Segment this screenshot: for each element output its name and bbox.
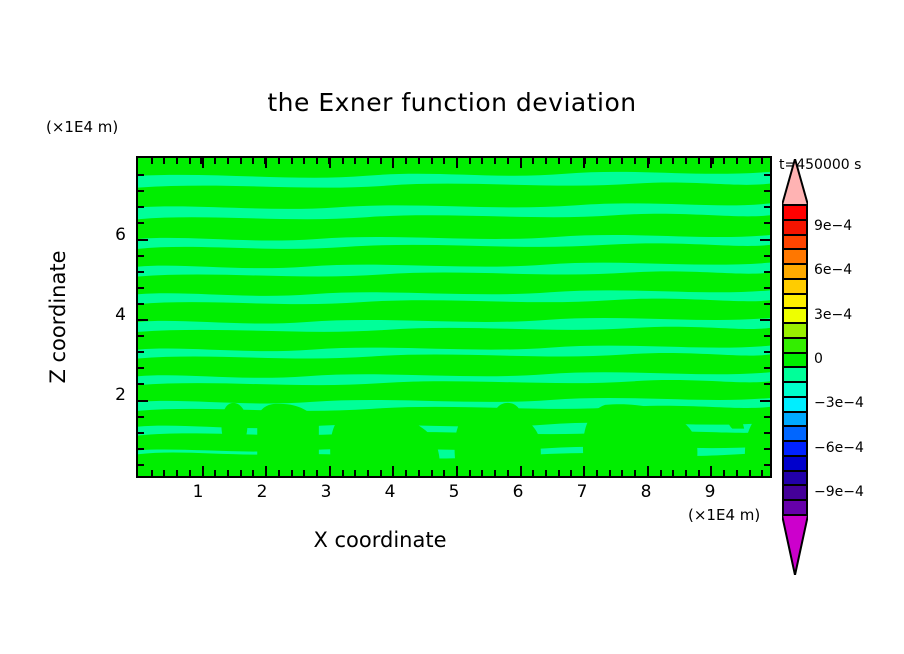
y-tick-minor bbox=[138, 383, 144, 385]
colorbar-band bbox=[782, 367, 808, 382]
x-tick-major bbox=[392, 466, 394, 476]
x-tick-minor bbox=[240, 158, 242, 164]
x-tick-major bbox=[520, 466, 522, 476]
colorbar-band bbox=[782, 249, 808, 264]
x-tick-label: 9 bbox=[695, 482, 725, 502]
x-tick-minor bbox=[621, 158, 623, 164]
x-tick-label: 5 bbox=[439, 482, 469, 502]
x-tick-minor bbox=[532, 470, 534, 476]
y-tick-minor bbox=[138, 255, 144, 257]
x-tick-minor bbox=[151, 470, 153, 476]
x-tick-major bbox=[456, 158, 458, 168]
x-tick-minor bbox=[252, 470, 254, 476]
x-tick-minor bbox=[189, 158, 191, 164]
x-tick-minor bbox=[481, 470, 483, 476]
x-tick-minor bbox=[380, 158, 382, 164]
x-tick-minor bbox=[736, 470, 738, 476]
x-tick-minor bbox=[252, 158, 254, 164]
y-tick-major bbox=[138, 400, 148, 402]
x-tick-minor bbox=[749, 470, 751, 476]
x-tick-label: 8 bbox=[631, 482, 661, 502]
colorbar-band bbox=[782, 264, 808, 279]
x-tick-major bbox=[329, 158, 331, 168]
y-tick-minor bbox=[764, 287, 770, 289]
y-tick-minor bbox=[764, 351, 770, 353]
y-tick-major bbox=[138, 319, 148, 321]
y-tick-minor bbox=[764, 383, 770, 385]
y-tick-minor bbox=[138, 303, 144, 305]
x-tick-minor bbox=[316, 470, 318, 476]
x-tick-minor bbox=[609, 158, 611, 164]
x-tick-minor bbox=[507, 470, 509, 476]
y-tick-minor bbox=[138, 271, 144, 273]
x-tick-minor bbox=[342, 158, 344, 164]
x-tick-minor bbox=[405, 158, 407, 164]
y-tick-minor bbox=[138, 335, 144, 337]
x-tick-minor bbox=[494, 158, 496, 164]
x-tick-minor bbox=[672, 158, 674, 164]
y-tick-label: 2 bbox=[96, 385, 126, 405]
x-tick-minor bbox=[761, 158, 763, 164]
y-tick-minor bbox=[764, 222, 770, 224]
y-tick-minor bbox=[138, 432, 144, 434]
y-tick-minor bbox=[764, 206, 770, 208]
x-tick-minor bbox=[380, 470, 382, 476]
x-tick-minor bbox=[316, 158, 318, 164]
x-tick-major bbox=[329, 466, 331, 476]
colorbar-band bbox=[782, 323, 808, 338]
x-tick-minor bbox=[405, 470, 407, 476]
y-tick-minor bbox=[764, 190, 770, 192]
x-tick-minor bbox=[723, 470, 725, 476]
x-tick-minor bbox=[749, 158, 751, 164]
y-tick-minor bbox=[138, 448, 144, 450]
x-tick-minor bbox=[609, 470, 611, 476]
colorbar-under-arrow bbox=[782, 515, 808, 575]
x-tick-label: 7 bbox=[567, 482, 597, 502]
y-tick-minor bbox=[138, 222, 144, 224]
colorbar-tick-label: 6e−4 bbox=[814, 262, 852, 278]
x-tick-minor bbox=[736, 158, 738, 164]
colorbar-band bbox=[782, 426, 808, 441]
x-tick-minor bbox=[570, 470, 572, 476]
x-tick-minor bbox=[151, 158, 153, 164]
y-tick-minor bbox=[764, 367, 770, 369]
x-tick-major bbox=[520, 158, 522, 168]
x-tick-major bbox=[265, 158, 267, 168]
x-tick-minor bbox=[672, 470, 674, 476]
colorbar-tick-label: −3e−4 bbox=[814, 395, 864, 411]
y-tick-major bbox=[138, 239, 148, 241]
x-tick-major bbox=[202, 158, 204, 168]
x-tick-major bbox=[710, 158, 712, 168]
x-tick-minor bbox=[507, 158, 509, 164]
x-tick-minor bbox=[354, 158, 356, 164]
colorbar-band bbox=[782, 338, 808, 353]
x-tick-minor bbox=[634, 158, 636, 164]
colorbar[interactable]: 9e−46e−43e−40−3e−4−6e−4−9e−4 bbox=[782, 205, 808, 515]
x-tick-label: 1 bbox=[183, 482, 213, 502]
colorbar-tick-label: −9e−4 bbox=[814, 484, 864, 500]
colorbar-over-arrow bbox=[782, 159, 808, 205]
x-tick-minor bbox=[494, 470, 496, 476]
x-tick-label: 6 bbox=[503, 482, 533, 502]
x-tick-minor bbox=[176, 470, 178, 476]
y-tick-label: 6 bbox=[96, 225, 126, 245]
x-tick-minor bbox=[163, 470, 165, 476]
x-tick-minor bbox=[367, 158, 369, 164]
y-tick-minor bbox=[138, 416, 144, 418]
contour-field bbox=[138, 158, 770, 476]
y-tick-minor bbox=[764, 255, 770, 257]
y-tick-minor bbox=[138, 206, 144, 208]
x-tick-minor bbox=[558, 158, 560, 164]
x-tick-minor bbox=[761, 470, 763, 476]
x-tick-major bbox=[265, 466, 267, 476]
colorbar-band bbox=[782, 500, 808, 515]
x-tick-major bbox=[583, 158, 585, 168]
x-axis-title: X coordinate bbox=[0, 528, 760, 552]
y-axis-unit-label: (×1E4 m) bbox=[46, 118, 118, 136]
x-tick-label: 4 bbox=[375, 482, 405, 502]
x-tick-minor bbox=[291, 470, 293, 476]
x-tick-minor bbox=[634, 470, 636, 476]
x-tick-minor bbox=[176, 158, 178, 164]
x-tick-minor bbox=[570, 158, 572, 164]
y-tick-minor bbox=[764, 335, 770, 337]
x-tick-minor bbox=[418, 158, 420, 164]
y-tick-minor bbox=[764, 271, 770, 273]
x-tick-label: 2 bbox=[247, 482, 277, 502]
colorbar-band bbox=[782, 412, 808, 427]
x-tick-minor bbox=[621, 470, 623, 476]
x-tick-minor bbox=[481, 158, 483, 164]
x-tick-minor bbox=[698, 470, 700, 476]
x-tick-minor bbox=[469, 158, 471, 164]
y-tick-minor bbox=[764, 174, 770, 176]
y-tick-major bbox=[760, 400, 770, 402]
x-tick-minor bbox=[685, 158, 687, 164]
colorbar-band bbox=[782, 441, 808, 456]
y-tick-minor bbox=[764, 432, 770, 434]
x-tick-minor bbox=[698, 158, 700, 164]
y-tick-label: 4 bbox=[96, 305, 126, 325]
colorbar-band bbox=[782, 308, 808, 323]
y-tick-minor bbox=[138, 190, 144, 192]
x-tick-major bbox=[392, 158, 394, 168]
y-tick-minor bbox=[138, 174, 144, 176]
x-tick-major bbox=[202, 466, 204, 476]
x-tick-minor bbox=[660, 470, 662, 476]
x-tick-minor bbox=[278, 158, 280, 164]
x-tick-label: 3 bbox=[311, 482, 341, 502]
y-tick-minor bbox=[138, 351, 144, 353]
x-tick-minor bbox=[545, 158, 547, 164]
y-tick-minor bbox=[764, 464, 770, 466]
x-tick-minor bbox=[303, 470, 305, 476]
x-tick-minor bbox=[596, 470, 598, 476]
y-tick-minor bbox=[138, 287, 144, 289]
colorbar-tick-label: −6e−4 bbox=[814, 440, 864, 456]
x-tick-minor bbox=[532, 158, 534, 164]
y-tick-major bbox=[760, 239, 770, 241]
y-axis-title: Z coordinate bbox=[46, 207, 70, 427]
x-tick-major bbox=[710, 466, 712, 476]
x-tick-minor bbox=[443, 158, 445, 164]
y-tick-minor bbox=[138, 367, 144, 369]
colorbar-band bbox=[782, 205, 808, 220]
x-tick-major bbox=[647, 158, 649, 168]
colorbar-band bbox=[782, 485, 808, 500]
x-tick-minor bbox=[367, 470, 369, 476]
x-tick-major bbox=[583, 466, 585, 476]
colorbar-band bbox=[782, 353, 808, 368]
x-tick-minor bbox=[431, 158, 433, 164]
x-tick-minor bbox=[545, 470, 547, 476]
x-tick-major bbox=[647, 466, 649, 476]
x-tick-minor bbox=[214, 470, 216, 476]
x-tick-minor bbox=[227, 158, 229, 164]
x-tick-minor bbox=[596, 158, 598, 164]
colorbar-tick-label: 0 bbox=[814, 351, 823, 367]
colorbar-band bbox=[782, 294, 808, 309]
x-tick-minor bbox=[227, 470, 229, 476]
colorbar-tick-label: 9e−4 bbox=[814, 218, 852, 234]
x-tick-minor bbox=[342, 470, 344, 476]
x-tick-minor bbox=[354, 470, 356, 476]
colorbar-band bbox=[782, 397, 808, 412]
y-tick-major bbox=[760, 319, 770, 321]
y-tick-minor bbox=[138, 464, 144, 466]
colorbar-band bbox=[782, 220, 808, 235]
x-tick-minor bbox=[291, 158, 293, 164]
colorbar-band bbox=[782, 235, 808, 250]
x-tick-minor bbox=[303, 158, 305, 164]
page-title: the Exner function deviation bbox=[0, 88, 904, 117]
y-tick-minor bbox=[764, 303, 770, 305]
colorbar-band bbox=[782, 456, 808, 471]
colorbar-tick-label: 3e−4 bbox=[814, 307, 852, 323]
x-tick-minor bbox=[723, 158, 725, 164]
colorbar-band bbox=[782, 471, 808, 486]
colorbar-band bbox=[782, 382, 808, 397]
contour-plot-area[interactable] bbox=[136, 156, 772, 478]
x-tick-minor bbox=[431, 470, 433, 476]
x-tick-minor bbox=[469, 470, 471, 476]
colorbar-band bbox=[782, 279, 808, 294]
x-tick-minor bbox=[418, 470, 420, 476]
x-tick-minor bbox=[558, 470, 560, 476]
x-tick-minor bbox=[163, 158, 165, 164]
x-tick-minor bbox=[189, 470, 191, 476]
x-tick-minor bbox=[278, 470, 280, 476]
y-tick-minor bbox=[764, 448, 770, 450]
y-tick-minor bbox=[764, 416, 770, 418]
x-tick-minor bbox=[214, 158, 216, 164]
x-tick-minor bbox=[443, 470, 445, 476]
x-axis-unit-label: (×1E4 m) bbox=[688, 506, 760, 524]
x-tick-minor bbox=[660, 158, 662, 164]
x-tick-minor bbox=[685, 470, 687, 476]
x-tick-minor bbox=[240, 470, 242, 476]
x-tick-major bbox=[456, 466, 458, 476]
